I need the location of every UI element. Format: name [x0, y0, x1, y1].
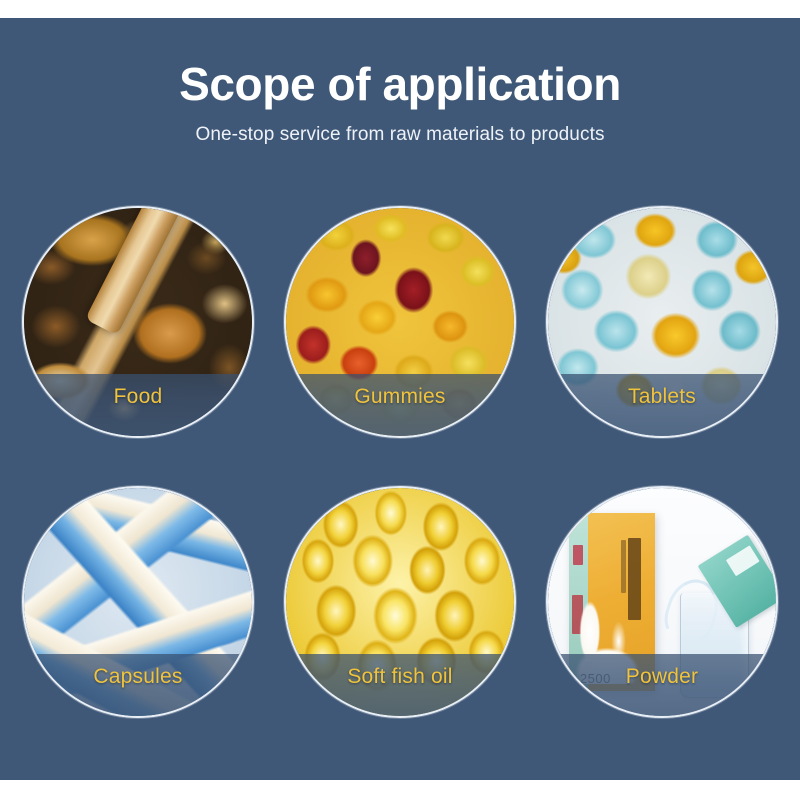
- tile-label-powder: Powder: [626, 665, 698, 689]
- tile-label-food: Food: [114, 385, 163, 409]
- page-root: Scope of application One-stop service fr…: [0, 0, 800, 800]
- application-tile-tablets[interactable]: Tablets: [546, 206, 778, 438]
- application-tile-gummies[interactable]: Gummies: [284, 206, 516, 438]
- tile-label-gummies: Gummies: [354, 385, 445, 409]
- tile-label-band: Soft fish oil: [286, 654, 514, 716]
- tile-label-band: Capsules: [24, 654, 252, 716]
- application-tile-soft-fish-oil[interactable]: Soft fish oil: [284, 486, 516, 718]
- content-panel: Scope of application One-stop service fr…: [0, 18, 800, 780]
- page-title: Scope of application: [0, 60, 800, 108]
- tile-label-capsules: Capsules: [93, 665, 182, 689]
- tile-label-band: Gummies: [286, 374, 514, 436]
- tile-label-soft-fish-oil: Soft fish oil: [347, 665, 452, 689]
- product-box-chinese-text-secondary: [621, 540, 625, 593]
- page-subtitle: One-stop service from raw materials to p…: [0, 124, 800, 146]
- application-grid: Food Gummies Tablets Ca: [22, 206, 778, 718]
- tile-label-band: Tablets: [548, 374, 776, 436]
- tile-label-band: Food: [24, 374, 252, 436]
- tile-label-band: Powder: [548, 654, 776, 716]
- tile-label-tablets: Tablets: [628, 385, 696, 409]
- application-tile-food[interactable]: Food: [22, 206, 254, 438]
- header: Scope of application One-stop service fr…: [0, 60, 800, 146]
- application-tile-powder[interactable]: 2500 Powder: [546, 486, 778, 718]
- application-tile-capsules[interactable]: Capsules: [22, 486, 254, 718]
